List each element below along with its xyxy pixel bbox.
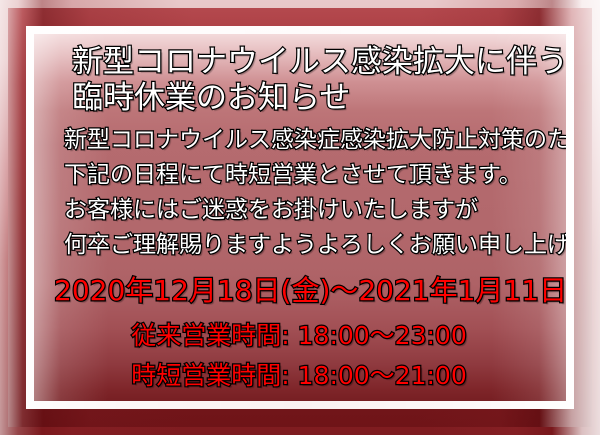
poster-hours-shortened: 時短営業時間: 18:00〜21:00 xyxy=(52,356,546,396)
poster-title-line-2: 臨時休業のお知らせ xyxy=(72,80,556,116)
poster-hours: 従来営業時間: 18:00〜23:00 時短営業時間: 18:00〜21:00 xyxy=(52,316,556,396)
poster-title-line-1: 新型コロナウイルス感染拡大に伴う xyxy=(72,44,556,80)
poster-title: 新型コロナウイルス感染拡大に伴う 臨時休業のお知らせ xyxy=(52,44,556,116)
poster-hours-regular: 従来営業時間: 18:00〜23:00 xyxy=(52,316,546,356)
poster-content: 新型コロナウイルス感染拡大に伴う 臨時休業のお知らせ 新型コロナウイルス感染症感… xyxy=(34,34,566,401)
poster-body-line-2: 下記の日程にて時短営業とさせて頂きます。 xyxy=(64,158,556,193)
poster-content-panel: 新型コロナウイルス感染拡大に伴う 臨時休業のお知らせ 新型コロナウイルス感染症感… xyxy=(34,34,566,401)
poster-body-line-4: 何卒ご理解賜りますようよろしくお願い申し上げます。 xyxy=(64,228,556,263)
poster-body: 新型コロナウイルス感染症感染拡大防止対策のため、 下記の日程にて時短営業とさせて… xyxy=(52,123,556,263)
poster-body-line-1: 新型コロナウイルス感染症感染拡大防止対策のため、 xyxy=(64,123,556,158)
poster-body-line-3: お客様にはご迷惑をお掛けいたしますが xyxy=(64,193,556,228)
notice-poster: 新型コロナウイルス感染拡大に伴う 臨時休業のお知らせ 新型コロナウイルス感染症感… xyxy=(0,0,600,435)
poster-closure-period: 2020年12月18日(金)〜2021年1月11日(日) xyxy=(52,272,556,310)
